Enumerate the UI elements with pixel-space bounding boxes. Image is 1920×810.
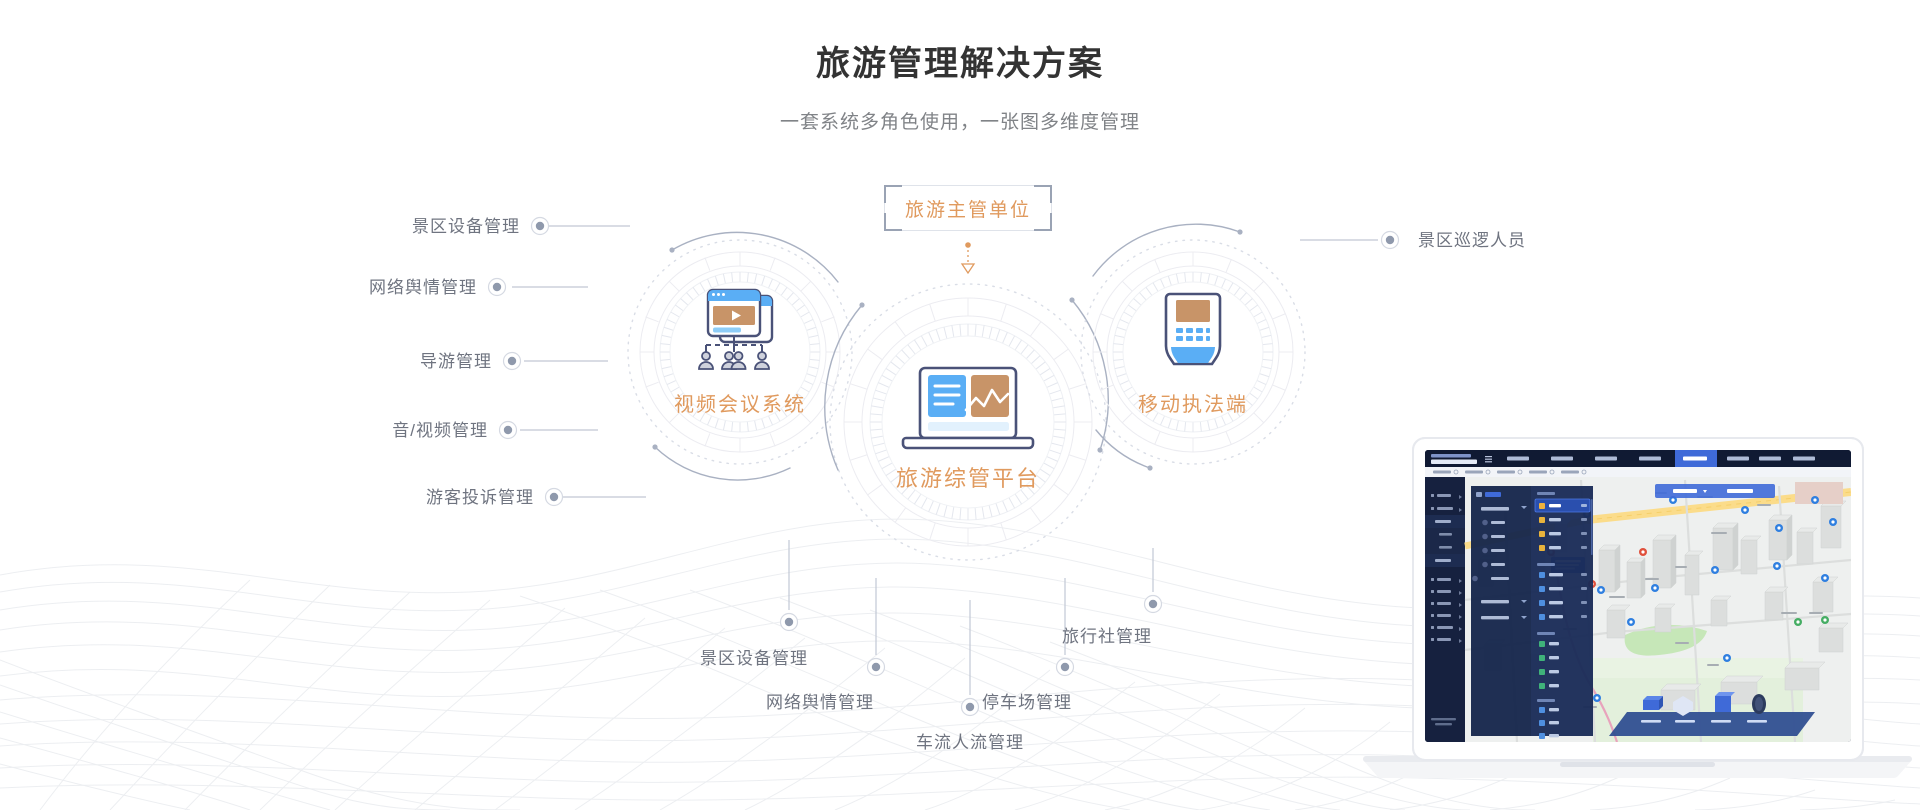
bottom-label-2: 网络舆情管理 <box>740 694 900 711</box>
left-connectors <box>512 226 646 497</box>
left-label-4: 音/视频管理 <box>256 422 488 439</box>
laptop-dashboard-icon <box>903 368 1033 448</box>
hub-label-video-conference: 视频会议系统 <box>668 395 812 415</box>
right-label-1: 景区巡逻人员 <box>1418 232 1526 249</box>
badge-connector <box>962 242 974 273</box>
region-tree-panel <box>1471 486 1531 736</box>
bottom-label-5: 旅行社管理 <box>1027 628 1187 645</box>
page-header: 旅游管理解决方案 一套系统多角色使用，一张图多维度管理 <box>0 0 1920 134</box>
page-title: 旅游管理解决方案 <box>0 44 1920 85</box>
authority-badge: 旅游主管单位 <box>884 185 1052 231</box>
dashboard-screen <box>1425 450 1851 742</box>
right-dots <box>1382 232 1399 249</box>
left-label-1: 景区设备管理 <box>288 218 520 235</box>
video-window-icon <box>699 290 772 369</box>
page-subtitle: 一套系统多角色使用，一张图多维度管理 <box>0 107 1920 134</box>
hub-label-tourism-platform: 旅游综管平台 <box>888 468 1048 490</box>
bottom-label-1: 景区设备管理 <box>674 650 834 667</box>
authority-badge-label: 旅游主管单位 <box>905 195 1031 222</box>
bottom-connectors <box>789 540 1153 695</box>
hub-label-mobile-enforcement: 移动执法端 <box>1133 395 1253 415</box>
left-label-5: 游客投诉管理 <box>302 489 534 506</box>
resource-list-panel <box>1531 486 1593 739</box>
left-label-3: 导游管理 <box>260 353 492 370</box>
laptop-mockup <box>1355 400 1920 800</box>
bottom-label-3: 车流人流管理 <box>890 734 1050 751</box>
left-label-2: 网络舆情管理 <box>245 279 477 296</box>
bottom-label-4: 停车场管理 <box>947 694 1107 711</box>
handheld-terminal-icon <box>1166 294 1220 364</box>
